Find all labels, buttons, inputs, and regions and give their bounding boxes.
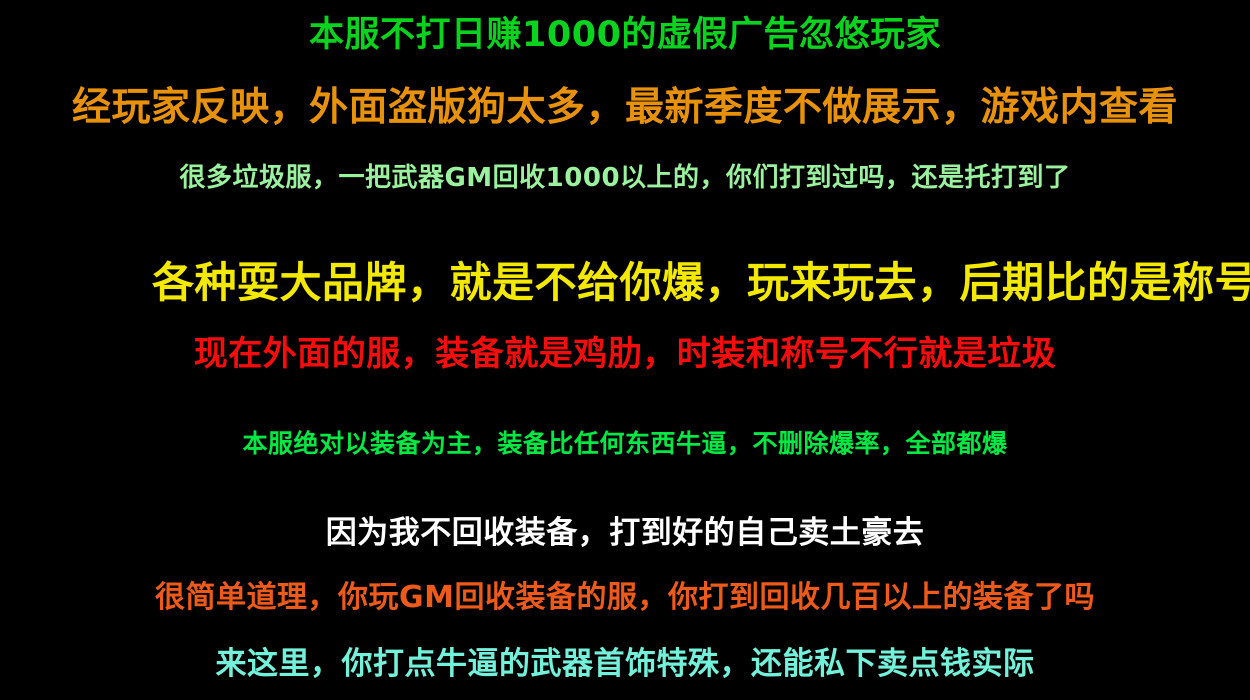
advertisement-banner: 本服不打日赚1000的虚假广告忽悠玩家 经玩家反映，外面盗版狗太多，最新季度不做…	[0, 0, 1250, 700]
ad-line-2: 经玩家反映，外面盗版狗太多，最新季度不做展示，游戏内查看	[0, 88, 1250, 127]
ad-line-6: 本服绝对以装备为主，装备比任何东西牛逼，不删除爆率，全部都爆	[0, 431, 1250, 456]
ad-line-9: 来这里，你打点牛逼的武器首饰特殊，还能私下卖点钱实际	[0, 649, 1250, 680]
ad-line-8: 很简单道理，你玩GM回收装备的服，你打到回收几百以上的装备了吗	[0, 583, 1250, 613]
ad-line-4: 各种耍大品牌，就是不给你爆，玩来玩去，后期比的是称号和时装	[0, 262, 1250, 304]
ad-line-7: 因为我不回收装备，打到好的自己卖土豪去	[0, 518, 1250, 549]
ad-line-3: 很多垃圾服，一把武器GM回收1000以上的，你们打到过吗，还是托打到了	[0, 165, 1250, 191]
ad-line-5: 现在外面的服，装备就是鸡肋，时装和称号不行就是垃圾	[0, 337, 1250, 371]
ad-line-1: 本服不打日赚1000的虚假广告忽悠玩家	[0, 18, 1250, 53]
